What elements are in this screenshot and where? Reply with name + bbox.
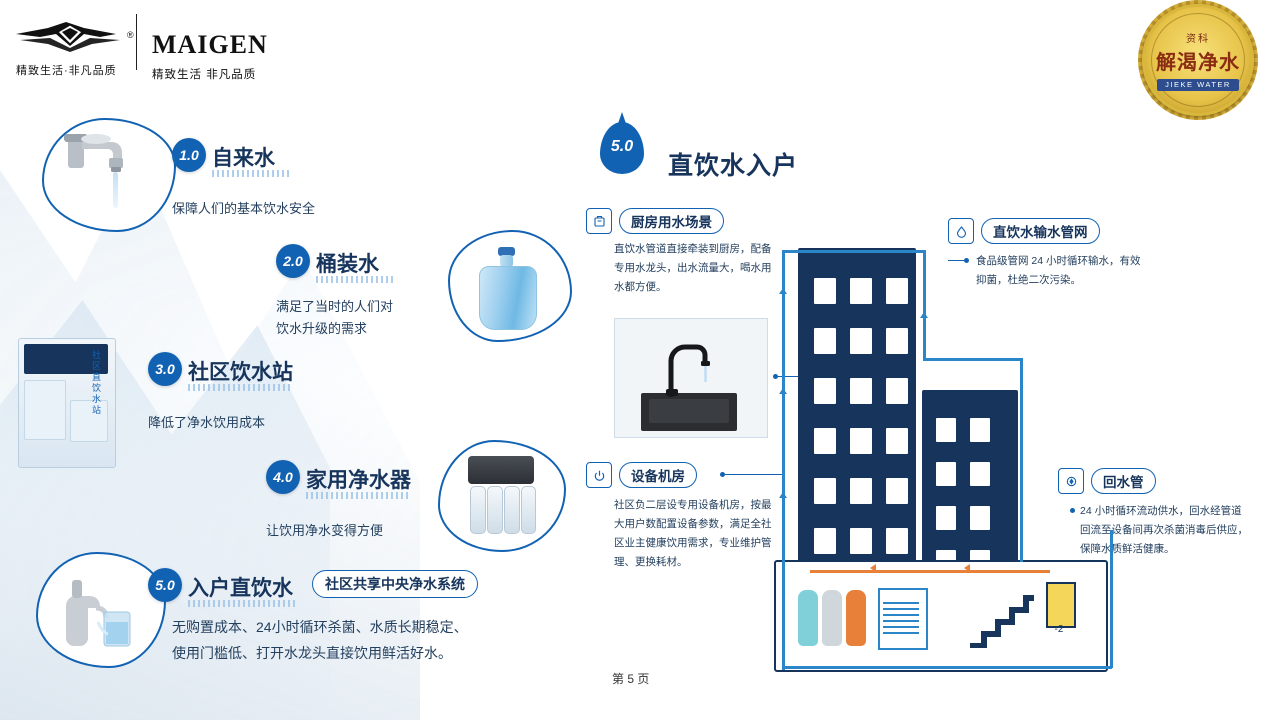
- card-kitchen-head: 厨房用水场景: [586, 208, 724, 234]
- card-return-head: 回水管: [1058, 468, 1156, 494]
- station-label-text: 社区直饮水站: [90, 350, 103, 416]
- supply-pipe-mid: [923, 358, 1023, 361]
- return-arrow-left: [870, 564, 876, 572]
- step-1-number: 1.0: [179, 147, 198, 163]
- step-4-number: 4.0: [273, 469, 292, 485]
- building-window: [814, 328, 836, 354]
- basement-label-box: [1046, 582, 1076, 628]
- flow-arrow-up: [779, 388, 787, 394]
- brand-slogan-cn: 精致生活 非凡品质: [152, 66, 256, 82]
- card-kitchen-label: 厨房用水场景: [619, 208, 724, 234]
- step-4-underline: [306, 492, 411, 499]
- equipment-connector-line: [725, 474, 785, 475]
- evolution-steps-column: 1.0 自来水 保障人们的基本饮水安全 2.0 桶装水 满足了当时的人们对 饮水…: [0, 100, 560, 700]
- return-pipe-lower: [782, 666, 1112, 669]
- step-2-number-badge: 2.0: [276, 244, 310, 278]
- step-5-underline: [188, 600, 298, 607]
- building-window: [886, 478, 908, 504]
- header-divider: [136, 14, 137, 70]
- building-window: [886, 428, 908, 454]
- faucet-icon: [62, 126, 154, 206]
- return-arrow-left: [964, 564, 970, 572]
- building-window: [814, 528, 836, 554]
- step-5-tag: 社区共享中央净水系统: [312, 570, 478, 598]
- building-window: [886, 378, 908, 404]
- building-window: [850, 378, 872, 404]
- step-2-title: 桶装水: [316, 248, 379, 278]
- return-connector-dot: [1070, 508, 1075, 513]
- step-3-number-badge: 3.0: [148, 352, 182, 386]
- step-4-number-badge: 4.0: [266, 460, 300, 494]
- pipe-icon: [948, 218, 974, 244]
- step-1-underline: [212, 170, 292, 177]
- supply-pipe-vertical-left: [782, 250, 785, 670]
- building-window: [886, 278, 908, 304]
- building-window: [814, 278, 836, 304]
- flow-arrow-up: [779, 492, 787, 498]
- building-window: [936, 462, 956, 486]
- section-title: 直饮水入户: [668, 146, 798, 182]
- step-1-title: 自来水: [212, 142, 275, 172]
- pipe-connector-line: [948, 260, 966, 261]
- water-purifier-icon: [468, 456, 534, 484]
- card-pipe-head: 直饮水输水管网: [948, 218, 1100, 244]
- building-window: [850, 528, 872, 554]
- building-window: [970, 462, 990, 486]
- seal-top-text: 资科: [1186, 30, 1210, 45]
- supply-pipe-top: [782, 250, 926, 253]
- supply-pipe-branch-right: [923, 250, 926, 358]
- purifier-filter-4: [521, 486, 536, 534]
- eagle-logo-icon: [14, 20, 126, 54]
- purifier-filter-2: [487, 486, 503, 534]
- hand-glass-icon: [52, 562, 150, 654]
- kitchen-photo: [614, 318, 768, 438]
- basement-label: -2: [1046, 624, 1072, 635]
- direct-drinking-water-diagram: 5.0 直饮水入户 厨房用水场景 直饮水管道直接牵装到厨房，配备 专用水龙头，出…: [570, 100, 1280, 700]
- building-window: [850, 278, 872, 304]
- card-equipment-text: 社区负二层设专用设备机房，按最 大用户数配置设备参数，满足全社 区业主健康饮用需…: [614, 496, 794, 572]
- stairs-icon: [968, 590, 1036, 648]
- return-pipe-riser: [1110, 530, 1113, 668]
- building-window: [970, 418, 990, 442]
- step-2-number: 2.0: [283, 253, 302, 269]
- card-equipment-label: 设备机房: [619, 462, 697, 488]
- building-window: [936, 418, 956, 442]
- building-window: [850, 328, 872, 354]
- step-1-description: 保障人们的基本饮水安全: [172, 198, 315, 220]
- section-drop-number: 5.0: [600, 138, 644, 156]
- seal-inner: 资科 解渴净水 JIEKE WATER: [1151, 13, 1245, 107]
- page-number: 第 5 页: [612, 670, 649, 687]
- seal-band-text: JIEKE WATER: [1157, 79, 1239, 91]
- card-pipe-text: 食品级管网 24 小时循环输水，有效 抑菌，杜绝二次污染。: [976, 252, 1226, 290]
- water-tank-1: [798, 590, 818, 646]
- water-bottle-icon: [479, 266, 537, 330]
- step-3-title: 社区饮水站: [188, 356, 293, 386]
- station-panel: [24, 380, 66, 440]
- purifier-filter-3: [504, 486, 520, 534]
- power-icon: [586, 462, 612, 488]
- step-4-description: 让饮用净水变得方便: [266, 520, 383, 542]
- flow-arrow-up: [779, 288, 787, 294]
- step-5-number: 5.0: [155, 577, 174, 593]
- step-3-description: 降低了净水饮用成本: [148, 412, 265, 434]
- return-flow-pipe: [810, 570, 1050, 573]
- water-tank-3: [846, 590, 866, 646]
- page-header: ® 精致生活·非凡品质 MAIGEN 精致生活 非凡品质 资科 解渴净水 JIE…: [0, 0, 1280, 96]
- building-window: [850, 478, 872, 504]
- brand-logo: ® 精致生活·非凡品质: [14, 16, 134, 82]
- cabinet-slats: [883, 602, 919, 634]
- card-return-label: 回水管: [1091, 468, 1156, 494]
- return-pipe-icon: [1058, 468, 1084, 494]
- building-window: [814, 378, 836, 404]
- building-window: [814, 428, 836, 454]
- building-window: [850, 428, 872, 454]
- brand-name-en: MAIGEN: [152, 30, 268, 60]
- seal-main-text: 解渴净水: [1156, 46, 1240, 75]
- building-window: [814, 478, 836, 504]
- building-window: [970, 506, 990, 530]
- step-2-underline: [316, 276, 396, 283]
- flow-arrow-up: [920, 312, 928, 318]
- water-tank-2: [822, 590, 842, 646]
- step-5-number-badge: 5.0: [148, 568, 182, 602]
- purifier-filter-1: [470, 486, 486, 534]
- water-stream: [113, 172, 118, 208]
- step-4-title: 家用净水器: [306, 464, 411, 494]
- building-window: [936, 506, 956, 530]
- step-5-description: 无购置成本、24小时循环杀菌、水质长期稳定、 使用门槛低、打开水龙头直接饮用鲜活…: [172, 614, 468, 666]
- card-equipment-head: 设备机房: [586, 462, 697, 488]
- supply-pipe-right-vertical: [1020, 358, 1023, 562]
- step-5-title: 入户直饮水: [188, 572, 293, 602]
- building-window: [886, 328, 908, 354]
- card-pipe-label: 直饮水输水管网: [981, 218, 1100, 244]
- card-kitchen-text: 直饮水管道直接牵装到厨房，配备 专用水龙头，出水流量大，喝水用 水都方便。: [614, 240, 824, 297]
- kitchen-icon: [586, 208, 612, 234]
- step-3-number: 3.0: [155, 361, 174, 377]
- step-2-description: 满足了当时的人们对 饮水升级的需求: [276, 296, 393, 340]
- building-window: [886, 528, 908, 554]
- logo-subtitle: 精致生活·非凡品质: [16, 62, 117, 78]
- step-3-underline: [188, 384, 293, 391]
- registered-mark: ®: [127, 30, 134, 40]
- step-1-number-badge: 1.0: [172, 138, 206, 172]
